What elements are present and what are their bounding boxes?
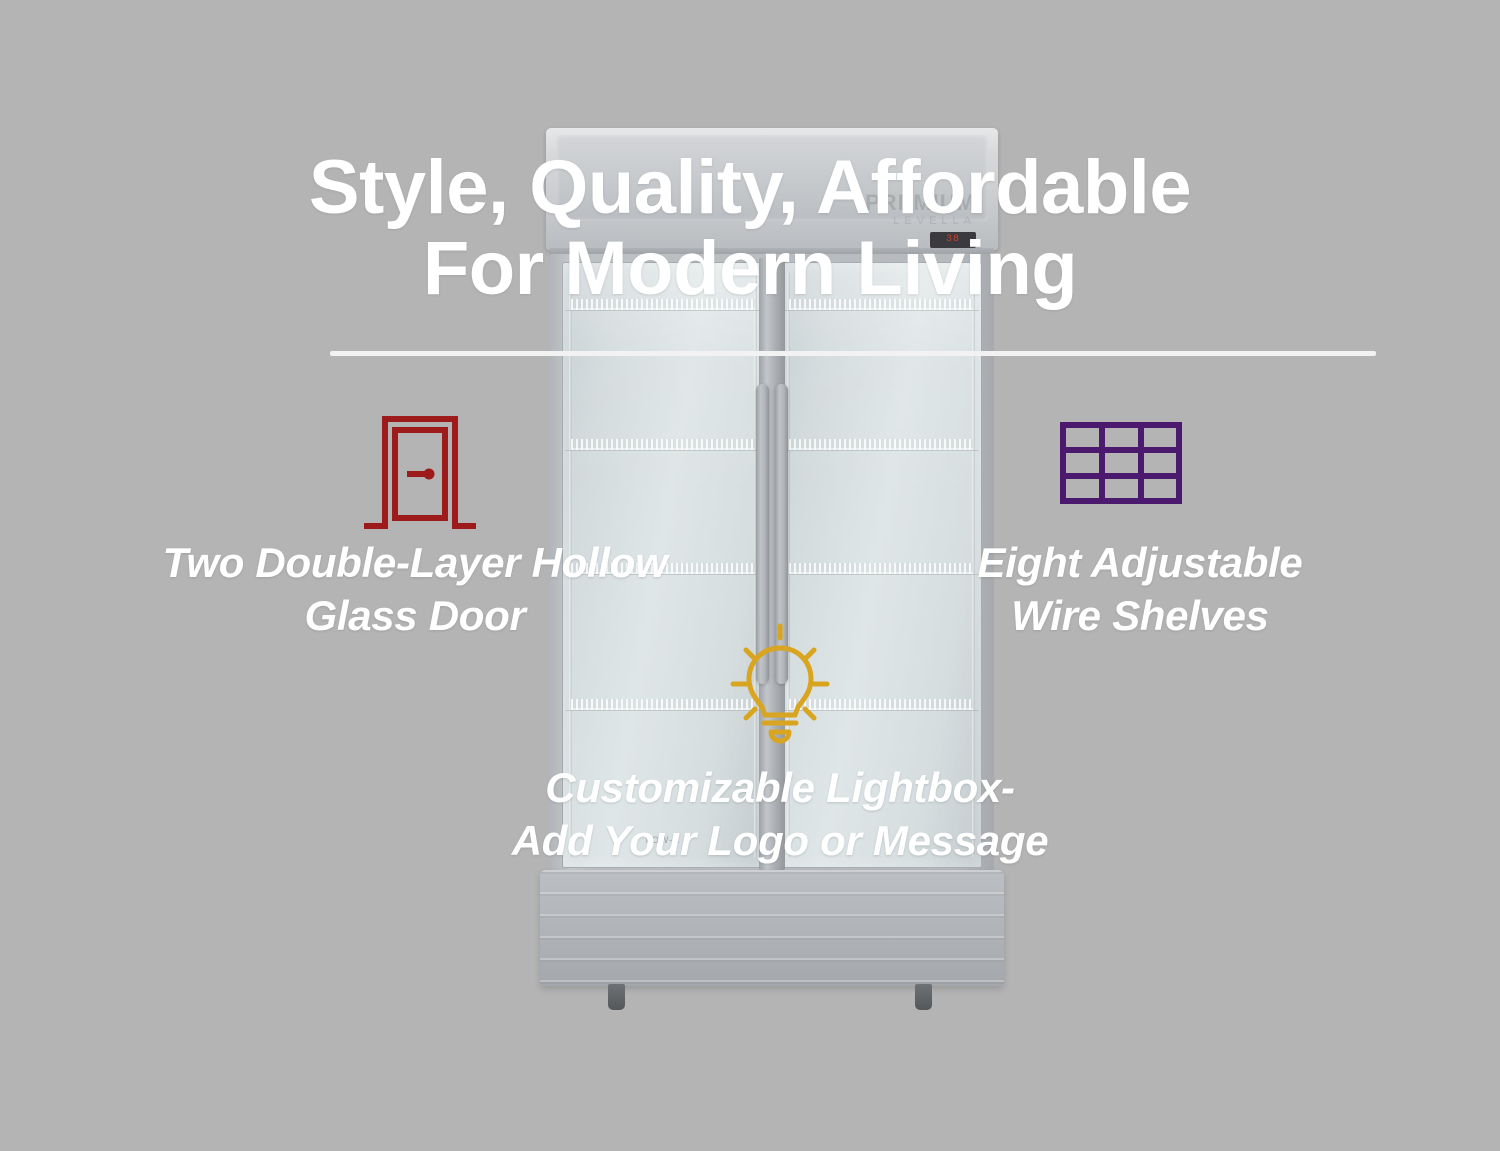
feature-label-lightbox: Customizable Lightbox- Add Your Logo or … <box>430 762 1130 868</box>
door-icon <box>364 412 476 535</box>
headline: Style, Quality, Affordable For Modern Li… <box>0 148 1500 309</box>
lightbulb-icon <box>725 622 835 749</box>
feature-label-wire-shelves: Eight Adjustable Wire Shelves <box>930 537 1350 643</box>
caster-wheel-left <box>608 984 625 1010</box>
feature-label-glass-door: Two Double-Layer Hollow Glass Door <box>95 537 735 643</box>
product-feature-graphic: PREMIUM LEVELLA 38 LOW-E <box>0 0 1500 1151</box>
caster-wheel-right <box>915 984 932 1010</box>
compressor-base <box>540 870 1004 986</box>
divider-line <box>330 351 1376 356</box>
wire-shelf <box>571 439 755 450</box>
shelf-grid-icon <box>1060 422 1182 509</box>
wire-shelf <box>789 439 973 450</box>
